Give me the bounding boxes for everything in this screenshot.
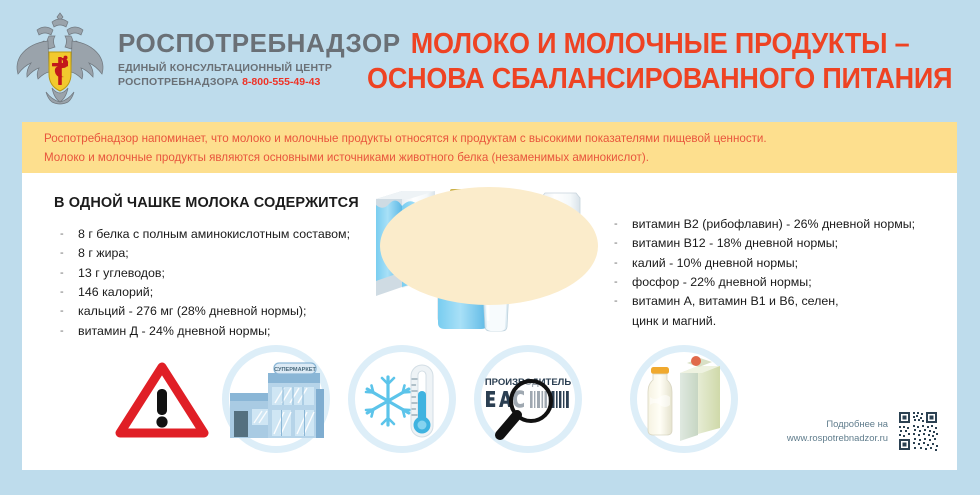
list-item-text: цинк и магний. xyxy=(632,312,716,331)
bullet-marker: - xyxy=(60,302,78,321)
bullet-marker: - xyxy=(60,244,78,263)
section-title: В ОДНОЙ ЧАШКЕ МОЛОКА СОДЕРЖИТСЯ xyxy=(54,195,359,211)
bullet-marker: - xyxy=(60,283,78,302)
list-item-text: 146 калорий; xyxy=(78,283,153,302)
page-title: МОЛОКО И МОЛОЧНЫЕ ПРОДУКТЫ – ОСНОВА СБАЛ… xyxy=(352,22,968,102)
bullet-marker: - xyxy=(614,254,632,273)
list-item-text: 8 г белка с полным аминокислотным состав… xyxy=(78,225,350,244)
list-item: цинк и магний. xyxy=(614,312,944,331)
russian-double-headed-eagle-emblem xyxy=(8,8,112,112)
nutrition-list-left: -8 г белка с полным аминокислотным соста… xyxy=(60,225,380,341)
list-item: -8 г белка с полным аминокислотным соста… xyxy=(60,225,380,244)
magnifier-manufacturer-icon[interactable]: ПРОИЗВОДИТЕЛЬ xyxy=(474,345,582,453)
bullet-marker: - xyxy=(60,225,78,244)
list-item-text: кальций - 276 мг (28% дневной нормы); xyxy=(78,302,306,321)
main-panel: В ОДНОЙ ЧАШКЕ МОЛОКА СОДЕРЖИТСЯ -8 г бел… xyxy=(22,173,957,470)
list-item: -витамин А, витамин В1 и В6, селен, xyxy=(614,292,944,311)
list-item: -калий - 10% дневной нормы; xyxy=(614,254,944,273)
bullet-marker: - xyxy=(614,215,632,234)
list-item-text: витамин Д - 24% дневной нормы; xyxy=(78,322,270,341)
magnifier-glass xyxy=(500,381,551,435)
list-item: -8 г жира; xyxy=(60,244,380,263)
list-item: -витамин В12 - 18% дневной нормы; xyxy=(614,234,944,253)
hotline-phone[interactable]: 8-800-555-49-43 xyxy=(242,76,320,88)
consultation-line-2: РОСПОТРЕБНАДЗОРА xyxy=(118,76,239,88)
milk-packaging-icon[interactable] xyxy=(630,345,738,453)
milk-products-illustration: МОЛОКО МОЛОКО МОЛОКО xyxy=(362,181,612,341)
bullet-marker: - xyxy=(60,264,78,283)
warning-triangle-icon[interactable] xyxy=(108,345,216,453)
bullet-marker: - xyxy=(614,273,632,292)
supermarket-sign-label: СУПЕРМАРКЕТ xyxy=(274,367,316,373)
footer: Подробнее на www.rospotrebnadzor.ru xyxy=(787,410,939,452)
list-item-text: витамин В2 (рибофлавин) - 26% дневной но… xyxy=(632,215,915,234)
list-item: -146 калорий; xyxy=(60,283,380,302)
list-item: -фосфор - 22% дневной нормы; xyxy=(614,273,944,292)
list-item: -витамин В2 (рибофлавин) - 26% дневной н… xyxy=(614,215,944,234)
bullet-marker: - xyxy=(614,234,632,253)
notice-banner: Роспотребнадзор напоминает, что молоко и… xyxy=(22,122,957,173)
nutrition-list-right: -витамин В2 (рибофлавин) - 26% дневной н… xyxy=(614,215,944,331)
bullet-marker: - xyxy=(60,322,78,341)
list-item-text: витамин А, витамин В1 и В6, селен, xyxy=(632,292,839,311)
list-item: -витамин Д - 24% дневной нормы; xyxy=(60,322,380,341)
website-url[interactable]: www.rospotrebnadzor.ru xyxy=(787,431,888,445)
list-item-text: 13 г углеводов; xyxy=(78,264,165,283)
bullet-marker: - xyxy=(614,292,632,311)
page-title-line-2: ОСНОВА СБАЛАНСИРОВАННОГО ПИТАНИЯ xyxy=(367,62,952,97)
page-title-line-1: МОЛОКО И МОЛОЧНЫЕ ПРОДУКТЫ – xyxy=(411,27,910,62)
qr-code-icon[interactable] xyxy=(897,410,939,452)
list-item-text: фосфор - 22% дневной нормы; xyxy=(632,273,812,292)
list-item-text: 8 г жира; xyxy=(78,244,129,263)
footer-text: Подробнее на www.rospotrebnadzor.ru xyxy=(787,417,888,444)
list-item: -кальций - 276 мг (28% дневной нормы); xyxy=(60,302,380,321)
more-info-label: Подробнее на xyxy=(787,417,888,431)
illustration-backdrop xyxy=(380,187,598,305)
brand-logo-block: РОСПОТРЕБНАДЗОР ЕДИНЫЙ КОНСУЛЬТАЦИОННЫЙ … xyxy=(8,8,338,112)
page-header: РОСПОТРЕБНАДЗОР ЕДИНЫЙ КОНСУЛЬТАЦИОННЫЙ … xyxy=(0,0,980,118)
snowflake-thermometer-icon[interactable] xyxy=(348,345,456,453)
list-item-text: калий - 10% дневной нормы; xyxy=(632,254,798,273)
notice-line-2: Молоко и молочные продукты являются осно… xyxy=(44,149,957,168)
supermarket-building-icon[interactable]: СУПЕРМАРКЕТ xyxy=(222,345,330,453)
list-item: -13 г углеводов; xyxy=(60,264,380,283)
list-item-text: витамин В12 - 18% дневной нормы; xyxy=(632,234,838,253)
notice-line-1: Роспотребнадзор напоминает, что молоко и… xyxy=(44,130,957,149)
